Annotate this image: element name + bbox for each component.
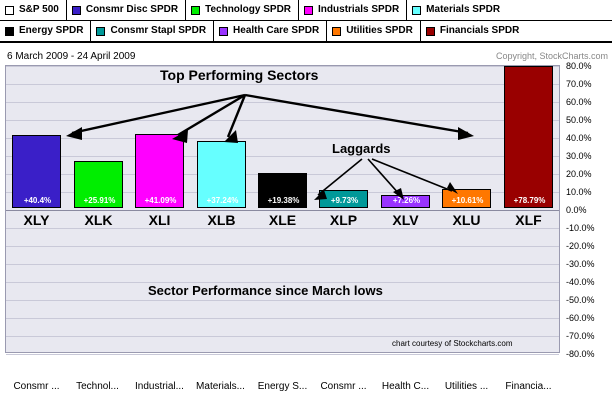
legend-row-2: Energy SPDR Consmr Stapl SPDR Health Car… [0,21,612,42]
legend-item-materials[interactable]: Materials SPDR [407,0,507,20]
x-axis-full-label: Financia... [492,381,565,392]
legend-item-industrials[interactable]: Industrials SPDR [299,0,407,20]
legend-item-utilities[interactable]: Utilities SPDR [327,21,421,41]
legend-item-energy[interactable]: Energy SPDR [0,21,91,41]
legend-swatch-icon [426,27,435,36]
chart-screenshot: S&P 500 Consmr Disc SPDR Technology SPDR… [0,0,612,401]
legend-item-sp500[interactable]: S&P 500 [0,0,67,20]
legend-label: Energy SPDR [19,26,83,36]
x-axis-labels: Consmr ...Technol...Industrial...Materia… [0,381,612,401]
legend-swatch-icon [304,6,313,15]
chart-plot-area: 6 March 2009 - 24 April 2009 Copyright, … [0,43,612,378]
legend-swatch-icon [219,27,228,36]
legend-label: Consmr Stapl SPDR [110,26,206,36]
legend-swatch-icon [96,27,105,36]
legend-label: S&P 500 [19,5,59,15]
legend-item-consmr-disc[interactable]: Consmr Disc SPDR [67,0,186,20]
legend-item-technology[interactable]: Technology SPDR [186,0,299,20]
legend-label: Industrials SPDR [318,5,399,15]
legend-label: Materials SPDR [426,5,500,15]
legend-item-consmr-stapl[interactable]: Consmr Stapl SPDR [91,21,214,41]
chart-legend: S&P 500 Consmr Disc SPDR Technology SPDR… [0,0,612,43]
annotation-arrows [0,43,612,378]
legend-swatch-icon [332,27,341,36]
legend-swatch-icon [5,6,14,15]
legend-item-financials[interactable]: Financials SPDR [421,21,526,41]
legend-label: Financials SPDR [440,26,519,36]
legend-label: Utilities SPDR [346,26,413,36]
legend-label: Consmr Disc SPDR [86,5,178,15]
legend-label: Technology SPDR [205,5,291,15]
legend-row-1: S&P 500 Consmr Disc SPDR Technology SPDR… [0,0,612,21]
legend-label: Health Care SPDR [233,26,319,36]
legend-swatch-icon [412,6,421,15]
legend-swatch-icon [72,6,81,15]
legend-swatch-icon [191,6,200,15]
legend-item-health-care[interactable]: Health Care SPDR [214,21,327,41]
legend-swatch-icon [5,27,14,36]
